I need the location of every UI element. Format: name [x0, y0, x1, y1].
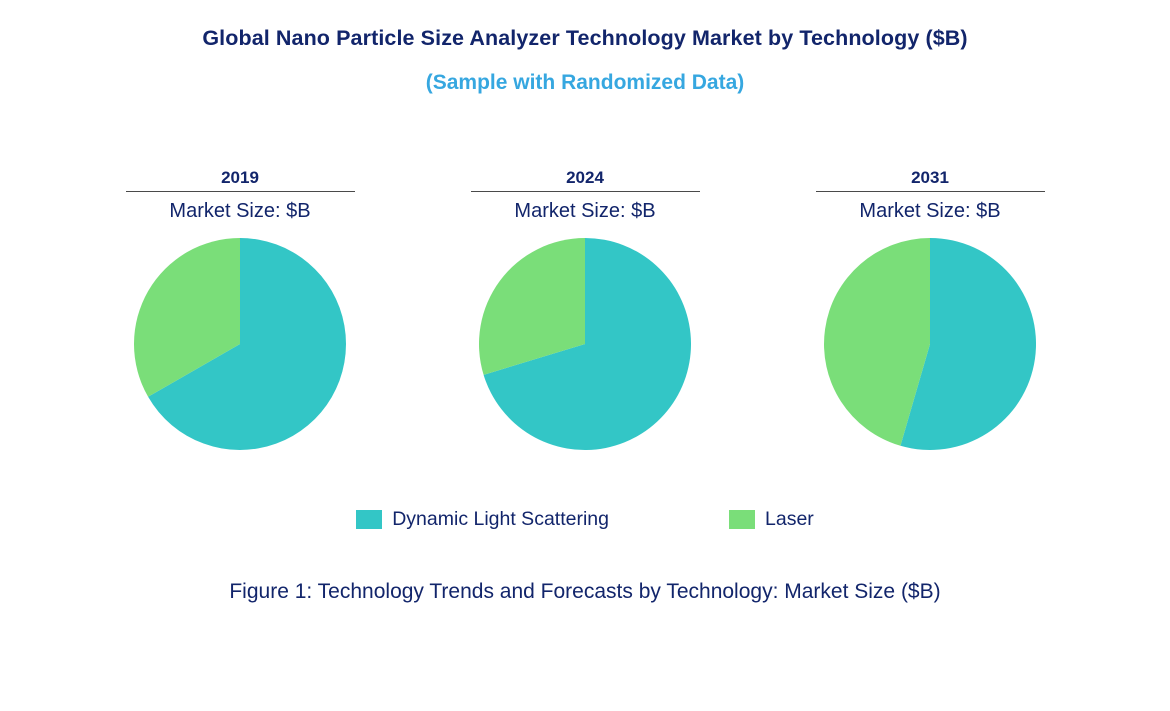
pie-svg-2031 — [824, 238, 1036, 450]
pie-panel-2024: 2024 Market Size: $B — [470, 168, 700, 450]
legend-label: Dynamic Light Scattering — [392, 508, 609, 530]
panel-divider — [471, 191, 700, 192]
legend-item-laser: Laser — [729, 508, 814, 530]
pie-svg-2019 — [134, 238, 346, 450]
panel-year-label: 2019 — [221, 168, 259, 187]
legend-item-dynamic-light-scattering: Dynamic Light Scattering — [356, 508, 609, 530]
panel-divider — [816, 191, 1045, 192]
pie-panel-2019: 2019 Market Size: $B — [125, 168, 355, 450]
panel-subhead-label: Market Size: $B — [859, 198, 1000, 224]
figure-caption: Figure 1: Technology Trends and Forecast… — [0, 580, 1170, 604]
pie-panel-group: 2019 Market Size: $B 2024 Market Size: $… — [0, 168, 1170, 450]
legend-swatch-icon — [356, 510, 382, 529]
panel-subhead-label: Market Size: $B — [514, 198, 655, 224]
legend-swatch-icon — [729, 510, 755, 529]
pie-svg-2024 — [479, 238, 691, 450]
panel-subhead-label: Market Size: $B — [169, 198, 310, 224]
chart-legend: Dynamic Light Scattering Laser — [0, 508, 1170, 530]
panel-year-label: 2024 — [566, 168, 604, 187]
pie-chart-2024 — [479, 238, 691, 450]
pie-slices-2024 — [479, 238, 691, 450]
pie-chart-2031 — [824, 238, 1036, 450]
pie-panel-2031: 2031 Market Size: $B — [815, 168, 1045, 450]
pie-chart-2019 — [134, 238, 346, 450]
pie-slices-2019 — [134, 238, 346, 450]
legend-label: Laser — [765, 508, 814, 530]
figure-canvas: Global Nano Particle Size Analyzer Techn… — [0, 0, 1170, 711]
panel-divider — [126, 191, 355, 192]
panel-year-label: 2031 — [911, 168, 949, 187]
page-title: Global Nano Particle Size Analyzer Techn… — [0, 26, 1170, 51]
page-subtitle: (Sample with Randomized Data) — [0, 71, 1170, 95]
title-block: Global Nano Particle Size Analyzer Techn… — [0, 26, 1170, 95]
pie-slices-2031 — [824, 238, 1036, 450]
